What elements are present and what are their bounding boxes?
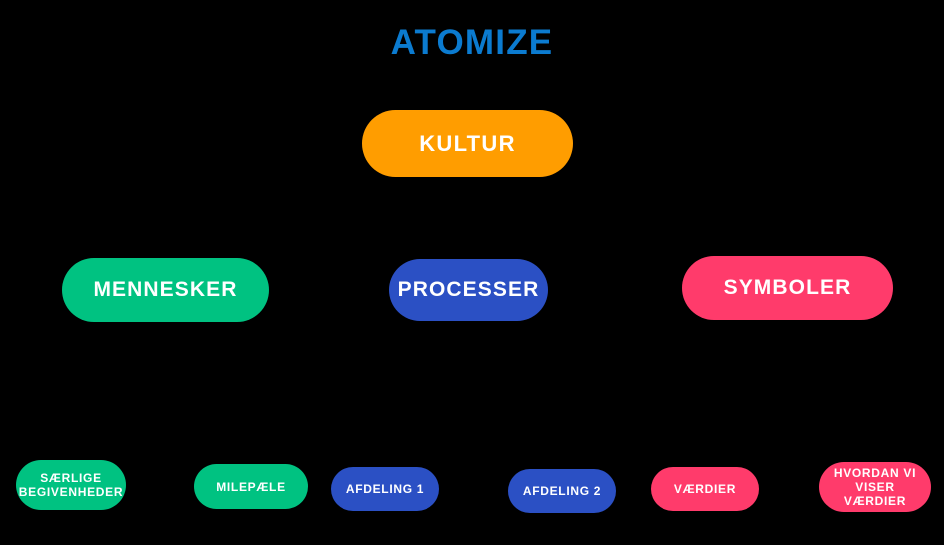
node-vaerdier[interactable]: VÆRDIER — [651, 467, 759, 511]
page-title: ATOMIZE — [0, 22, 944, 64]
node-saerlige-begivenheder[interactable]: SÆRLIGE BEGIVENHEDER — [16, 460, 126, 510]
node-afdeling-1[interactable]: AFDELING 1 — [331, 467, 439, 511]
node-symboler[interactable]: SYMBOLER — [682, 256, 893, 320]
node-afdeling-2[interactable]: AFDELING 2 — [508, 469, 616, 513]
node-mennesker[interactable]: MENNESKER — [62, 258, 269, 322]
node-milepaele[interactable]: MILEPÆLE — [194, 464, 308, 509]
node-hvordan-vi-viser-vaerdier[interactable]: HVORDAN VI VISER VÆRDIER — [819, 462, 931, 512]
node-processer[interactable]: PROCESSER — [389, 259, 548, 321]
node-kultur[interactable]: KULTUR — [362, 110, 573, 177]
diagram-canvas: ATOMIZE KULTUR MENNESKER PROCESSER SYMBO… — [0, 0, 944, 545]
